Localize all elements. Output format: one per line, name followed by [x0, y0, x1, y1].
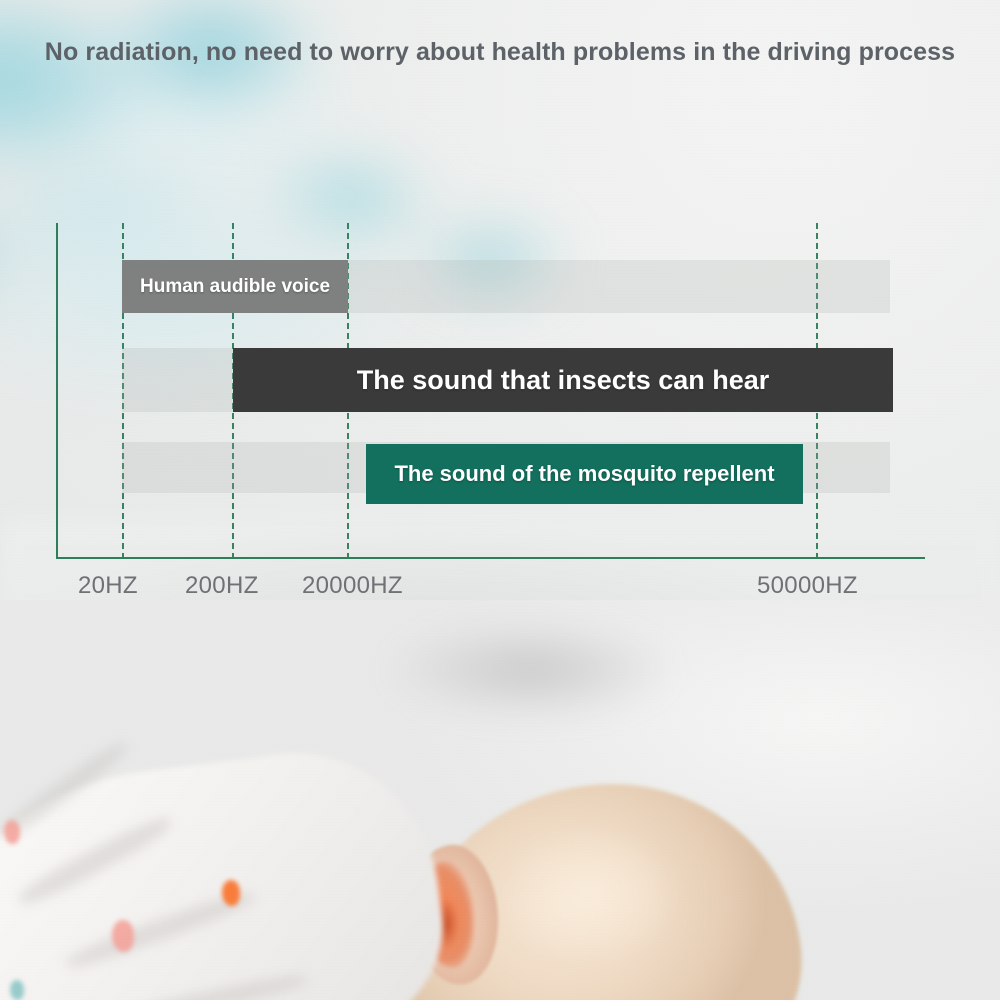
promo-graphic: No radiation, no need to worry about hea… [0, 0, 1000, 1000]
tick-label-20000hz: 20000HZ [302, 572, 403, 600]
pajama-dot [10, 980, 24, 1000]
bar-mosquito-repellent: The sound of the mosquito repellent [366, 444, 803, 504]
y-axis-line [56, 223, 58, 559]
bar-insects-hearing: The sound that insects can hear [233, 348, 893, 412]
pajama-dot [222, 880, 240, 906]
tick-label-200hz: 200HZ [185, 572, 259, 600]
tick-label-20hz: 20HZ [78, 572, 138, 600]
bar-human-audible-voice: Human audible voice [122, 260, 348, 313]
tick-label-50000hz: 50000HZ [757, 572, 858, 600]
frequency-range-chart: Human audible voice The sound that insec… [0, 0, 1000, 620]
pajama-dot [112, 920, 134, 952]
sleeping-baby-photo [0, 600, 1000, 1000]
x-axis-line [56, 557, 925, 559]
pajama-dot [4, 820, 20, 844]
